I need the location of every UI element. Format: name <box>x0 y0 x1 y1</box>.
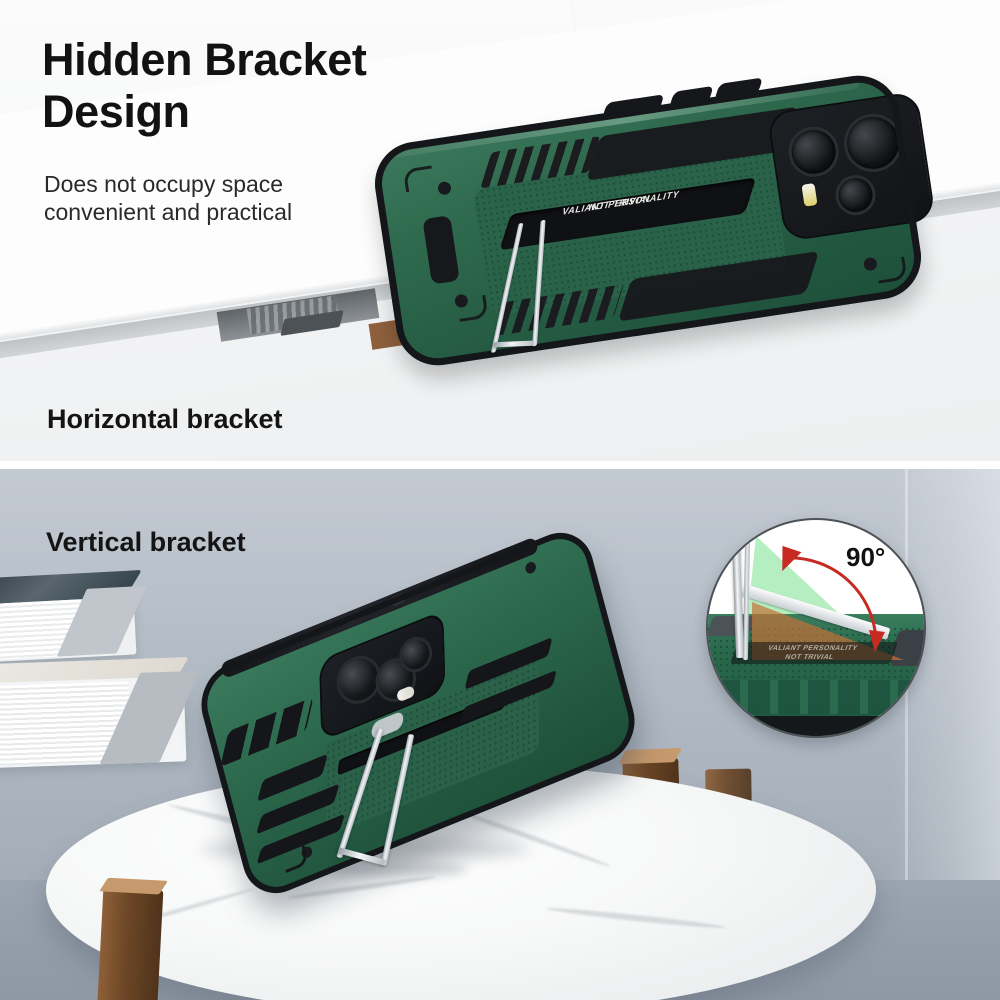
page-subtitle: Does not occupy space convenient and pra… <box>44 170 404 226</box>
angle-label: 90° <box>846 542 885 573</box>
page-title-line1: Hidden Bracket <box>42 34 367 85</box>
book-top <box>0 592 137 663</box>
horizontal-bracket-label: Horizontal bracket <box>47 404 283 435</box>
book-bottom <box>0 673 186 768</box>
page-title: Hidden Bracket Design <box>42 34 512 138</box>
page-title-line2: Design <box>42 86 190 137</box>
angle-detail-inset: VALIANT PERSONALITY NOT TRIVIAL 90° <box>706 518 926 738</box>
top-panel-horizontal-bracket: VALIANT PERSONALITYNOT TRIVIAL Hidden Br… <box>0 0 1000 465</box>
table-leg-top <box>99 878 168 895</box>
kickstand-foot <box>493 341 535 348</box>
product-infographic: VALIANT PERSONALITYNOT TRIVIAL Hidden Br… <box>0 0 1000 1000</box>
page-subtitle-line1: Does not occupy space <box>44 171 283 197</box>
kickstand-foot <box>337 847 385 865</box>
page-subtitle-line2: convenient and practical <box>44 199 292 225</box>
panel-divider <box>0 461 1000 469</box>
kickstand-leg-right <box>380 734 414 865</box>
rotation-arc-arrow-icon <box>708 520 924 736</box>
vertical-bracket-label: Vertical bracket <box>46 527 246 558</box>
kickstand-leg-right <box>532 219 546 346</box>
table-leg-front <box>97 888 164 1000</box>
